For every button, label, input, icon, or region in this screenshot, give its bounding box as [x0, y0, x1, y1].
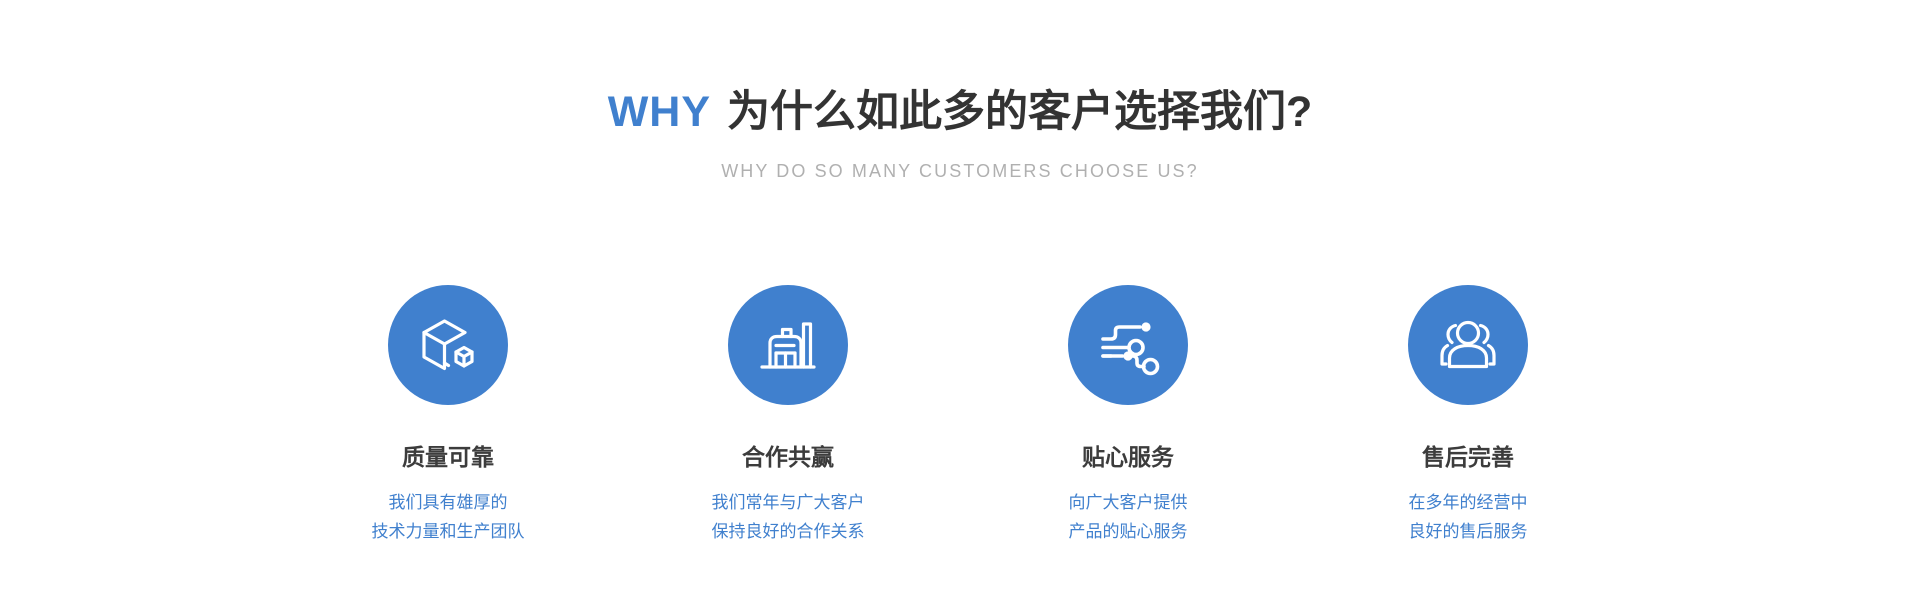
feature-item-cooperation[interactable]: 合作共赢 我们常年与广大客户 保持良好的合作关系	[643, 285, 933, 546]
page-title: WHY为什么如此多的客户选择我们?	[0, 86, 1920, 138]
feature-description: 在多年的经营中 良好的售后服务	[1409, 488, 1528, 546]
feature-description: 我们具有雄厚的 技术力量和生产团队	[372, 488, 525, 546]
title-chinese: 为什么如此多的客户选择我们?	[727, 88, 1312, 136]
feature-list: 质量可靠 我们具有雄厚的 技术力量和生产团队	[303, 285, 1613, 546]
box-package-icon	[388, 285, 508, 405]
title-accent-why: WHY	[608, 88, 711, 136]
desc-line-2: 良好的售后服务	[1409, 517, 1528, 546]
desc-line-2: 技术力量和生产团队	[372, 517, 525, 546]
people-group-icon	[1408, 285, 1528, 405]
desc-line-1: 向广大客户提供	[1069, 488, 1188, 517]
desc-line-2: 保持良好的合作关系	[712, 517, 865, 546]
feature-title: 合作共赢	[742, 444, 834, 471]
feature-title: 质量可靠	[402, 444, 494, 471]
factory-icon	[728, 285, 848, 405]
feature-item-quality[interactable]: 质量可靠 我们具有雄厚的 技术力量和生产团队	[303, 285, 593, 546]
circuit-nodes-icon	[1068, 285, 1188, 405]
why-choose-us-section: WHY为什么如此多的客户选择我们? WHY DO SO MANY CUSTOME…	[0, 0, 1920, 615]
desc-line-2: 产品的贴心服务	[1069, 517, 1188, 546]
feature-item-aftersales[interactable]: 售后完善 在多年的经营中 良好的售后服务	[1323, 285, 1613, 546]
desc-line-1: 在多年的经营中	[1409, 488, 1528, 517]
page-subtitle: WHY DO SO MANY CUSTOMERS CHOOSE US?	[0, 160, 1920, 182]
section-heading: WHY为什么如此多的客户选择我们? WHY DO SO MANY CUSTOME…	[0, 86, 1920, 182]
feature-item-service[interactable]: 贴心服务 向广大客户提供 产品的贴心服务	[983, 285, 1273, 546]
desc-line-1: 我们常年与广大客户	[712, 488, 865, 517]
feature-description: 我们常年与广大客户 保持良好的合作关系	[712, 488, 865, 546]
feature-title: 售后完善	[1422, 444, 1514, 471]
desc-line-1: 我们具有雄厚的	[372, 488, 525, 517]
feature-description: 向广大客户提供 产品的贴心服务	[1069, 488, 1188, 546]
feature-title: 贴心服务	[1082, 444, 1174, 471]
